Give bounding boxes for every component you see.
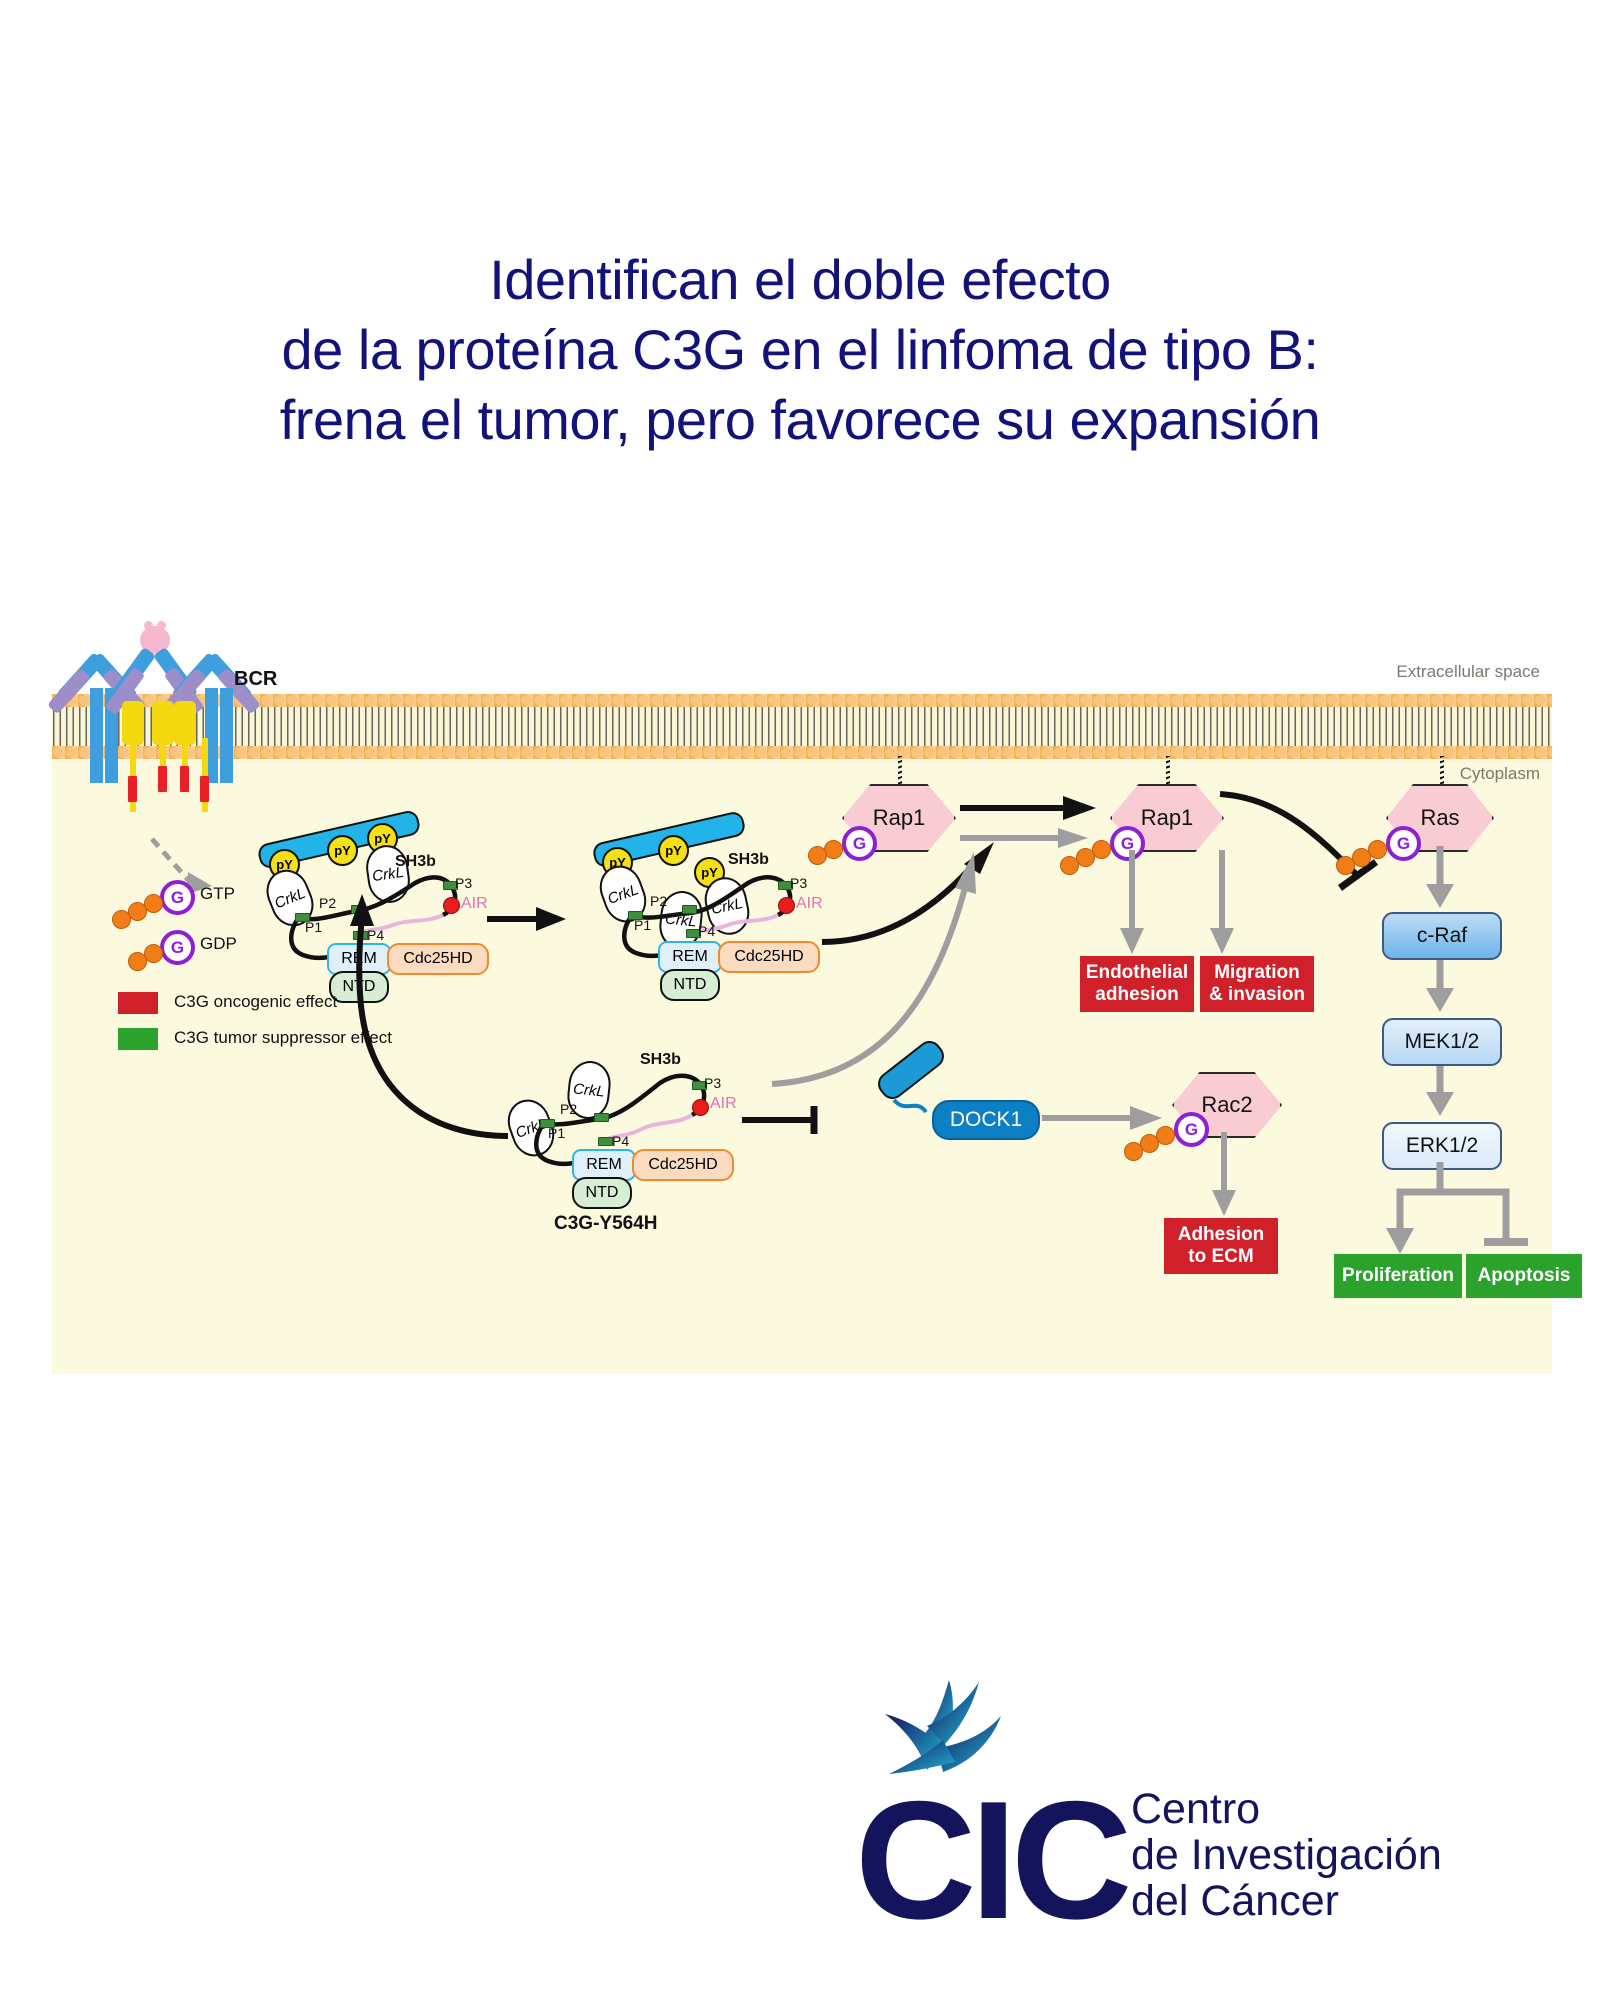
- itam-tail: [130, 802, 136, 812]
- outcome-line2: to ECM: [1188, 1246, 1253, 1267]
- title-line-1: Identifican el doble efecto: [0, 245, 1600, 315]
- rac2-label: Rac2: [1201, 1092, 1252, 1118]
- legend-label-suppressor: C3G tumor suppressor effect: [174, 1028, 392, 1048]
- cic-acronym: CIC: [855, 1776, 1126, 1944]
- outcome-proliferation: Proliferation: [1334, 1254, 1462, 1298]
- kinase-c-raf: c-Raf: [1382, 912, 1502, 960]
- p4-label: P4: [698, 923, 715, 939]
- prenyl-anchor: [1440, 756, 1444, 786]
- air-label: AIR: [710, 1095, 737, 1113]
- phosphate-icon: [112, 910, 131, 929]
- ig-stem: [220, 688, 233, 783]
- sh3b-label: SH3b: [395, 853, 436, 871]
- cytoplasm-label: Cytoplasm: [1460, 764, 1540, 784]
- legend-label-oncogenic: C3G oncogenic effect: [174, 992, 337, 1012]
- lipid-tails: [52, 707, 1552, 746]
- cic-fullname: Centro de Investigación del Cáncer: [1131, 1786, 1442, 1924]
- cic-name-line3: del Cáncer: [1131, 1878, 1442, 1924]
- kinase-mek12: MEK1/2: [1382, 1018, 1502, 1066]
- outcome-apoptosis: Apoptosis: [1466, 1254, 1582, 1298]
- ntd-domain: NTD: [572, 1177, 632, 1209]
- dock1-node: DOCK1: [932, 1100, 1040, 1140]
- sh3b-label: SH3b: [640, 1051, 681, 1069]
- lipid-headgroups-inner: [52, 746, 1552, 759]
- p1-label: P1: [634, 917, 651, 933]
- p1-label: P1: [548, 1125, 565, 1141]
- outcome-line1: Adhesion: [1178, 1224, 1265, 1245]
- page-title: Identifican el doble efecto de la proteí…: [0, 245, 1600, 455]
- outcome-adhesion-ecm: Adhesion to ECM: [1164, 1218, 1278, 1274]
- air-dot-icon: [692, 1099, 709, 1116]
- nucleotide-icon: G: [842, 826, 877, 861]
- phosphate-icon: [1124, 1142, 1143, 1161]
- p4-label: P4: [612, 1133, 629, 1149]
- p3-label: P3: [704, 1075, 721, 1091]
- title-line-2: de la proteína C3G en el linfoma de tipo…: [0, 315, 1600, 385]
- outcome-line2: & invasion: [1209, 984, 1305, 1005]
- lipid-headgroups-outer: [52, 694, 1552, 707]
- phosphate-icon: [128, 952, 147, 971]
- itam-phospho: [128, 776, 137, 802]
- p2-site: [682, 905, 697, 914]
- pathway-diagram: Extracellular space Cytoplasm: [52, 634, 1552, 1374]
- rap1-gtp-label: Rap1: [1141, 805, 1194, 831]
- p2-label: P2: [650, 893, 667, 909]
- cic-logo: CIC Centro de Investigación del Cáncer: [855, 1700, 1455, 1960]
- prenyl-anchor: [1166, 756, 1170, 786]
- mutant-inhibits-dock1: [742, 1102, 862, 1142]
- bcr-receptor: [60, 626, 265, 826]
- legend-label-gtp: GTP: [200, 884, 235, 904]
- p4-site: [598, 1137, 613, 1146]
- mutant-to-rap1-arrow: [752, 834, 1042, 1094]
- phosphate-icon: [808, 846, 827, 865]
- bcr-label: BCR: [234, 668, 277, 691]
- prenyl-anchor: [898, 756, 902, 786]
- itam-tail: [202, 802, 208, 812]
- cic-name-line1: Centro: [1131, 1786, 1442, 1832]
- cdc25hd-domain: Cdc25HD: [632, 1149, 734, 1181]
- legend-swatch-suppressor: [118, 1028, 158, 1050]
- p2-label: P2: [560, 1101, 577, 1117]
- itam-phospho: [180, 766, 189, 792]
- ras-label: Ras: [1420, 805, 1459, 831]
- ig-stem: [90, 688, 103, 783]
- title-line-3: frena el tumor, pero favorece su expansi…: [0, 385, 1600, 455]
- phosphate-icon: [1336, 856, 1355, 875]
- itam-phospho: [200, 776, 209, 802]
- outcome-line2: adhesion: [1095, 984, 1178, 1005]
- rap1-effector-arrows: [1112, 850, 1252, 960]
- outcome-migration-invasion: Migration & invasion: [1200, 956, 1314, 1012]
- outcome-endothelial-adhesion: Endothelial adhesion: [1080, 956, 1194, 1012]
- extracellular-space-label: Extracellular space: [1396, 662, 1540, 682]
- p2-site: [594, 1113, 609, 1122]
- outcome-line1: Endothelial: [1086, 962, 1188, 983]
- ntd-domain: NTD: [660, 969, 720, 1001]
- phosphate-icon: [1060, 856, 1079, 875]
- c3g-y564h-mutant: CrkL CrkL P1 P2 P3 P4 SH3b AIR REM Cdc25…: [502, 1019, 752, 1169]
- itam-phospho: [158, 766, 167, 792]
- legend-label-gdp: GDP: [200, 934, 237, 954]
- legend-swatch-oncogenic: [118, 992, 158, 1014]
- rap1-gdp-label: Rap1: [873, 805, 926, 831]
- nucleotide-icon: G: [160, 880, 195, 915]
- mutant-name-label: C3G-Y564H: [554, 1213, 658, 1235]
- cic-name-line2: de Investigación: [1131, 1832, 1442, 1878]
- rac2-to-ecm-arrow: [1202, 1132, 1252, 1224]
- nucleotide-icon: G: [160, 930, 195, 965]
- outcome-line1: Migration: [1214, 962, 1300, 983]
